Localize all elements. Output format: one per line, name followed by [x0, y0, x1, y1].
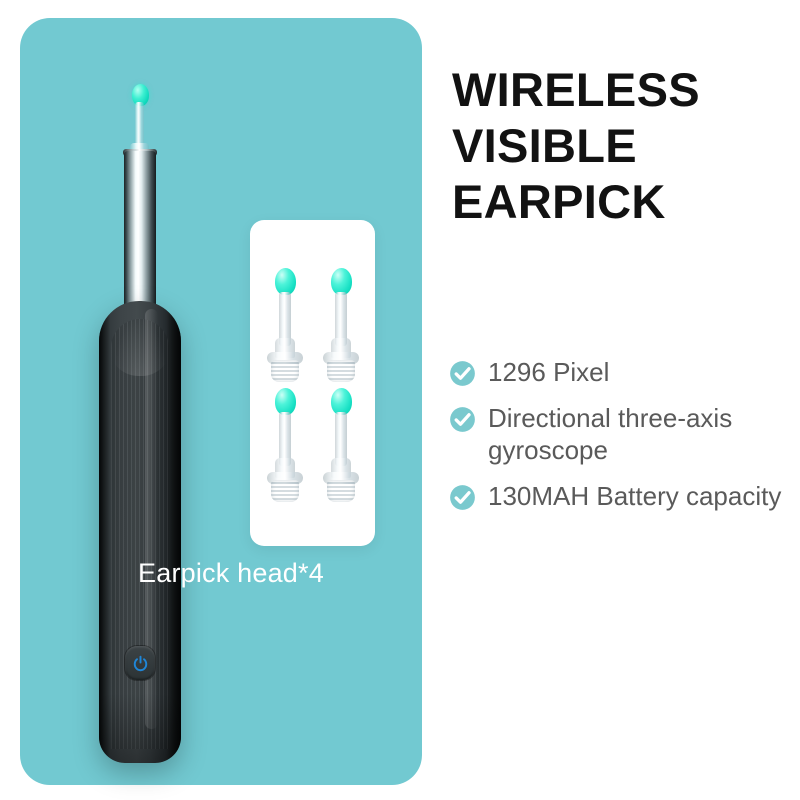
earpick-head-bulb-icon [331, 388, 352, 415]
headline-line-2: VISIBLE [452, 118, 782, 174]
product-image-panel: Earpick head*4 [20, 18, 422, 785]
feature-label: 1296 Pixel [488, 356, 609, 388]
power-button[interactable] [125, 646, 155, 680]
earpick-head-bulb-icon [331, 268, 352, 295]
earpick-head-item [264, 388, 306, 506]
check-circle-icon [449, 484, 476, 511]
feature-item: Directional three-axis gyroscope [449, 402, 789, 466]
device-chrome-tube [124, 151, 156, 311]
earpick-heads-caption: Earpick head*4 [40, 558, 422, 589]
feature-label: 130MAH Battery capacity [488, 480, 781, 512]
earpick-head-item [320, 388, 362, 506]
earpick-head-base [327, 360, 355, 382]
feature-list: 1296 Pixel Directional three-axis gyrosc… [449, 356, 789, 526]
feature-item: 130MAH Battery capacity [449, 480, 789, 512]
handle-dome-highlight [108, 306, 172, 376]
feature-label: Directional three-axis gyroscope [488, 402, 789, 466]
earpick-heads-card [250, 220, 375, 546]
earpick-head-item [264, 268, 306, 386]
earpick-heads-grid [250, 220, 375, 546]
earpick-head-base [271, 360, 299, 382]
earpick-device [80, 73, 230, 773]
product-advertisement: Earpick head*4 WIRELESS VISIBLE EARPICK … [0, 0, 800, 800]
handle-bottom-shading [99, 693, 181, 763]
page-title: WIRELESS VISIBLE EARPICK [452, 62, 782, 230]
earpick-head-base [271, 480, 299, 502]
handle-rib-texture [111, 319, 169, 749]
headline-line-3: EARPICK [452, 174, 782, 230]
earpick-head-base [327, 480, 355, 502]
earpick-head-bulb-icon [275, 268, 296, 295]
check-circle-icon [449, 360, 476, 387]
feature-item: 1296 Pixel [449, 356, 789, 388]
headline-line-1: WIRELESS [452, 62, 782, 118]
earpick-head-item [320, 268, 362, 386]
device-handle [99, 301, 181, 763]
power-icon [133, 655, 148, 672]
earpick-head-bulb-icon [275, 388, 296, 415]
check-circle-icon [449, 406, 476, 433]
